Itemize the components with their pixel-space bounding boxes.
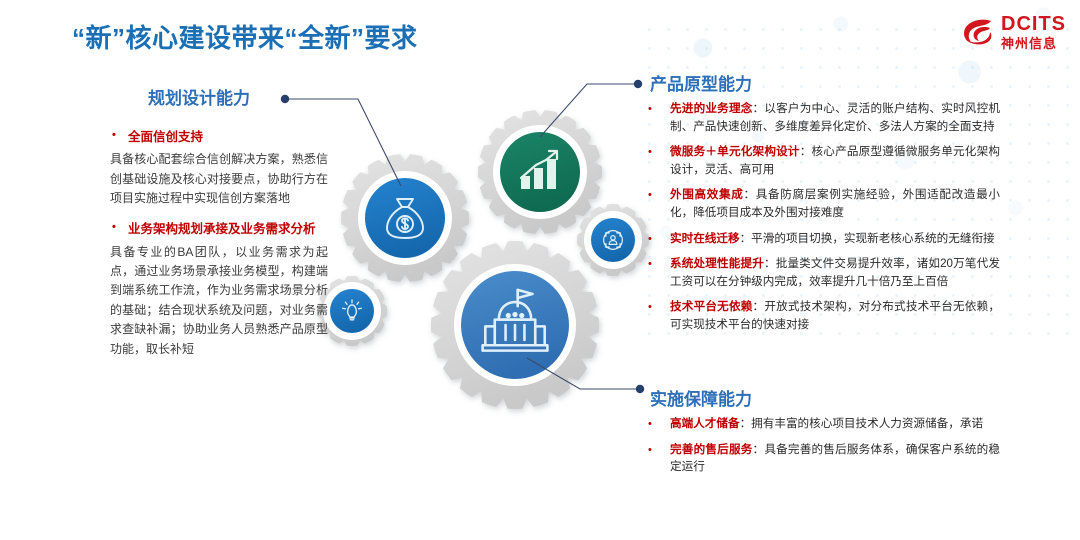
planning-text-column: • 全面信创支持 具备核心配套综合信创解决方案，熟悉信创基础设施及核心对接要点，… [110, 128, 328, 371]
implementation-item-text: 完善的售后服务：具备完善的售后服务体系，确保客户系统的稳定运行 [670, 441, 1000, 476]
money-bag-gear [341, 154, 469, 282]
implementation-item: •高端人才储备：拥有丰富的核心项目技术人力资源储备，承诺 [648, 415, 1000, 433]
implementation-item-title: 完善的售后服务 [670, 443, 753, 456]
product-item-title: 微服务＋单元化架构设计 [670, 145, 800, 158]
product-item-text: 技术平台无依赖：开放式技术架构，对分布式技术平台无依赖，可实现技术平台的快速对接 [670, 298, 1000, 333]
bullet-icon: • [110, 220, 128, 236]
bullet-icon: • [648, 298, 670, 316]
bar-chart-up-icon-disc [500, 132, 580, 212]
connector-implementation [527, 358, 644, 393]
section-heading-product: 产品原型能力 [650, 70, 752, 95]
bar-chart-up-icon [521, 151, 557, 189]
bank-building-icon [483, 290, 548, 351]
implementation-text-column: •高端人才储备：拥有丰富的核心项目技术人力资源储备，承诺•完善的售后服务：具备完… [648, 415, 1000, 484]
money-bag-icon-disc [365, 178, 445, 258]
slide-canvas: “新”核心建设带来“全新”要求 DCITS 神州信息 [0, 0, 1080, 540]
product-item: •微服务＋单元化架构设计：核心产品原型遵循微服务单元化架构设计，灵活、高可用 [648, 143, 1000, 178]
bank-building-icon-disc [461, 271, 569, 379]
bullet-icon: • [648, 415, 670, 433]
logo-text-cn: 神州信息 [1001, 37, 1066, 50]
product-item-text: 系统处理性能提升：批量类文件交易提升效率，诸如20万笔代发工资可以在分钟级内完成… [670, 255, 1000, 290]
bullet-icon: • [110, 128, 128, 144]
person-target-icon [604, 231, 623, 250]
planning-item-heading: • 全面信创支持 [110, 128, 328, 146]
implementation-item-title: 高端人才储备 [670, 417, 740, 430]
product-item: •技术平台无依赖：开放式技术架构，对分布式技术平台无依赖，可实现技术平台的快速对… [648, 298, 1000, 333]
product-item: •先进的业务理念：以客户为中心、灵活的账户结构、实时风控机制、产品快速创新、多维… [648, 100, 1000, 135]
planning-item-title: 业务架构规划承接及业务需求分析 [128, 220, 328, 238]
money-bag-icon [387, 199, 423, 238]
bullet-icon: • [648, 255, 670, 273]
logo-text: DCITS 神州信息 [1001, 14, 1066, 50]
implementation-item-text: 高端人才储备：拥有丰富的核心项目技术人力资源储备，承诺 [670, 415, 1000, 433]
planning-item-heading: • 业务架构规划承接及业务需求分析 [110, 220, 328, 238]
person-target-icon-disc [591, 218, 635, 262]
logo-text-en: DCITS [1001, 14, 1066, 34]
planning-item: • 业务架构规划承接及业务需求分析 具备专业的BA团队，以业务需求为起点，通过业… [110, 220, 328, 359]
section-heading-implementation: 实施保障能力 [650, 385, 752, 410]
product-item-title: 实时在线迁移 [670, 232, 740, 245]
growth-chart-gear [478, 110, 602, 234]
connector-product [540, 80, 642, 137]
bank-gear [431, 241, 599, 409]
planning-item-title: 全面信创支持 [128, 128, 328, 146]
bullet-icon: • [648, 230, 670, 248]
brand-logo: DCITS 神州信息 [961, 14, 1066, 50]
product-item-text: 外围高效集成：具备防腐层案例实施经验，外围适配改造最小化，降低项目成本及外围对接… [670, 186, 1000, 221]
planning-item-body: 具备核心配套综合信创解决方案，熟悉信创基础设施及核心对接要点，协助行方在项目实施… [110, 150, 328, 208]
product-item-text: 实时在线迁移：平滑的项目切换，实现新老核心系统的无缝衔接 [670, 230, 1000, 248]
connector-planning-endpoint-dot [281, 95, 289, 103]
bullet-icon: • [648, 186, 670, 204]
connector-product-endpoint-dot [634, 80, 642, 88]
planning-item-body: 具备专业的BA团队，以业务需求为起点，通过业务场景承接业务模型，构建端到端系统工… [110, 243, 328, 360]
product-item-title: 先进的业务理念 [670, 102, 753, 115]
bullet-icon: • [648, 441, 670, 459]
implementation-item: •完善的售后服务：具备完善的售后服务体系，确保客户系统的稳定运行 [648, 441, 1000, 476]
product-item-title: 外围高效集成 [670, 188, 743, 201]
planning-item: • 全面信创支持 具备核心配套综合信创解决方案，熟悉信创基础设施及核心对接要点，… [110, 128, 328, 208]
product-item-text: 先进的业务理念：以客户为中心、灵活的账户结构、实时风控机制、产品快速创新、多维度… [670, 100, 1000, 135]
section-heading-planning: 规划设计能力 [148, 84, 250, 109]
person-target-gear [577, 204, 649, 276]
product-item: •系统处理性能提升：批量类文件交易提升效率，诸如20万笔代发工资可以在分钟级内完… [648, 255, 1000, 290]
product-item-title: 技术平台无依赖 [670, 300, 753, 313]
lightbulb-icon-disc [330, 289, 374, 333]
product-item: •实时在线迁移：平滑的项目切换，实现新老核心系统的无缝衔接 [648, 230, 1000, 248]
connector-implementation-endpoint-dot [636, 385, 644, 393]
product-item-text: 微服务＋单元化架构设计：核心产品原型遵循微服务单元化架构设计，灵活、高可用 [670, 143, 1000, 178]
product-item: •外围高效集成：具备防腐层案例实施经验，外围适配改造最小化，降低项目成本及外围对… [648, 186, 1000, 221]
product-text-column: •先进的业务理念：以客户为中心、灵活的账户结构、实时风控机制、产品快速创新、多维… [648, 100, 1000, 342]
dcits-swirl-icon [961, 17, 995, 47]
product-item-title: 系统处理性能提升 [670, 257, 764, 270]
bullet-icon: • [648, 143, 670, 161]
bullet-icon: • [648, 100, 670, 118]
page-title: “新”核心建设带来“全新”要求 [72, 18, 418, 55]
lightbulb-icon [343, 300, 362, 320]
